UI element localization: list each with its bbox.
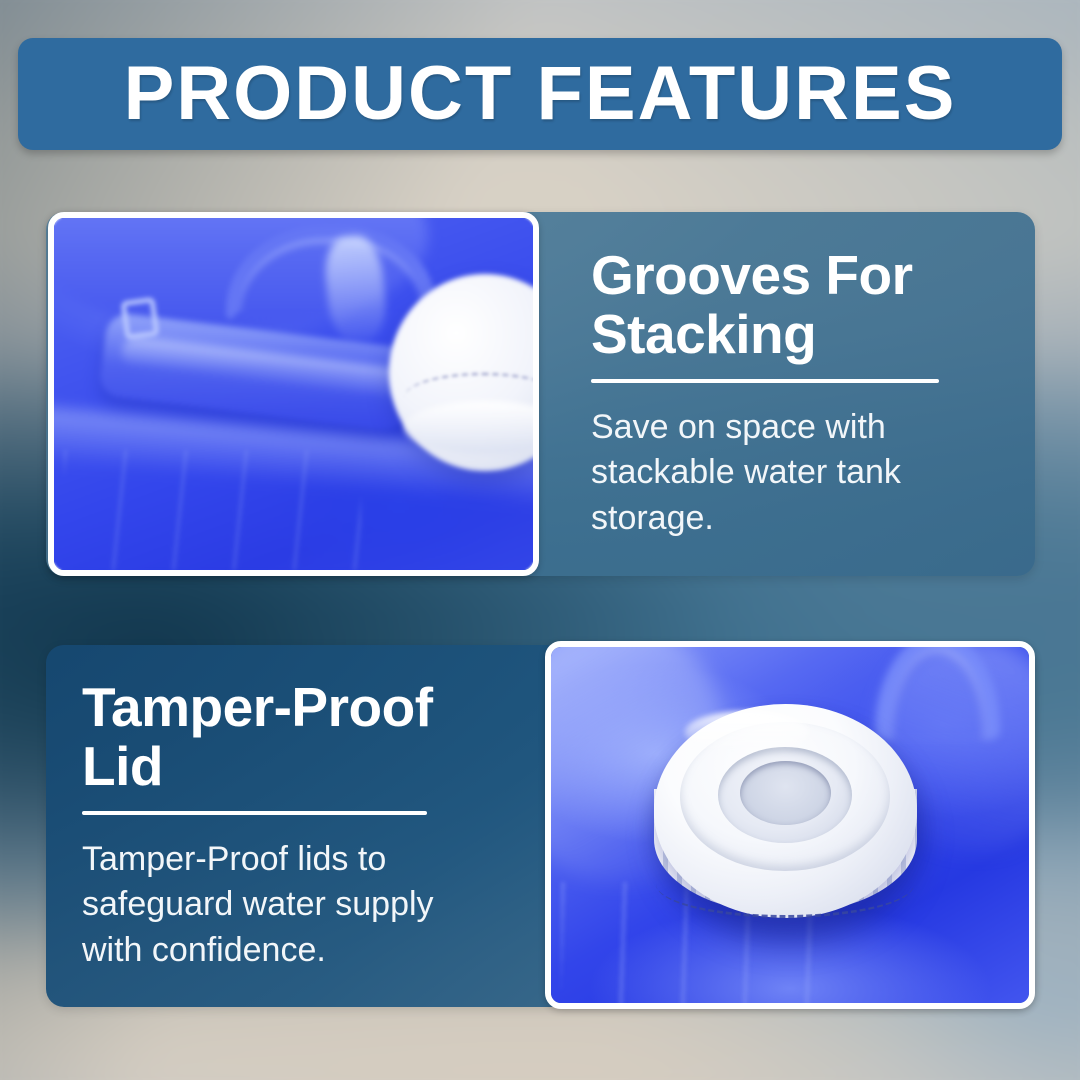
feature-card-tamper-proof-lid: Tamper-Proof Lid Tamper-Proof lids to sa… <box>46 645 1035 1007</box>
feature-description: Save on space with stackable water tank … <box>591 405 951 543</box>
feature-text-grooves-for-stacking: Grooves For Stacking Save on space with … <box>539 212 1035 576</box>
page-title: PRODUCT FEATURES <box>124 56 957 132</box>
feature-heading: Grooves For Stacking <box>591 246 995 365</box>
feature-heading: Tamper-Proof Lid <box>82 678 507 797</box>
heading-divider <box>82 811 427 815</box>
tamper-proof-lid-photo <box>551 647 1029 1003</box>
feature-text-tamper-proof-lid: Tamper-Proof Lid Tamper-Proof lids to sa… <box>46 645 537 1007</box>
header-banner: PRODUCT FEATURES <box>18 38 1062 150</box>
feature-description: Tamper-Proof lids to safeguard water sup… <box>82 837 462 975</box>
feature-card-grooves-for-stacking: Grooves For Stacking Save on space with … <box>46 212 1035 576</box>
product-features-page: PRODUCT FEATURES Grooves For Stackin <box>0 0 1080 1080</box>
feature-image-tamper-proof-lid <box>545 641 1035 1009</box>
feature-image-grooves-for-stacking <box>48 212 539 576</box>
heading-divider <box>591 379 939 383</box>
water-tank-grooves-photo <box>54 218 533 570</box>
